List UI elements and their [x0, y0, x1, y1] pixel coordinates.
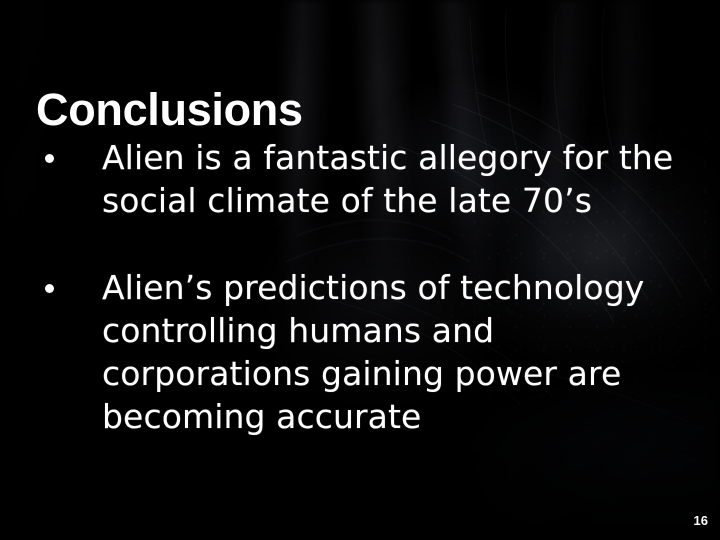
bullet-list: Alien is a fantastic allegory for the so…	[0, 136, 720, 438]
bullet-item: Alien’s predictions of technology contro…	[0, 266, 720, 438]
presentation-slide: Conclusions Alien is a fantastic allegor…	[0, 0, 720, 540]
bullet-text: Alien’s predictions of technology contro…	[102, 266, 688, 438]
slide-content: Conclusions Alien is a fantastic allegor…	[0, 0, 720, 540]
slide-title: Conclusions	[36, 84, 303, 136]
bullet-dot-icon	[45, 154, 54, 163]
bullet-item: Alien is a fantastic allegory for the so…	[0, 136, 720, 222]
bullet-dot-icon	[45, 284, 54, 293]
bullet-text: Alien is a fantastic allegory for the so…	[102, 136, 688, 222]
page-number: 16	[694, 514, 708, 528]
